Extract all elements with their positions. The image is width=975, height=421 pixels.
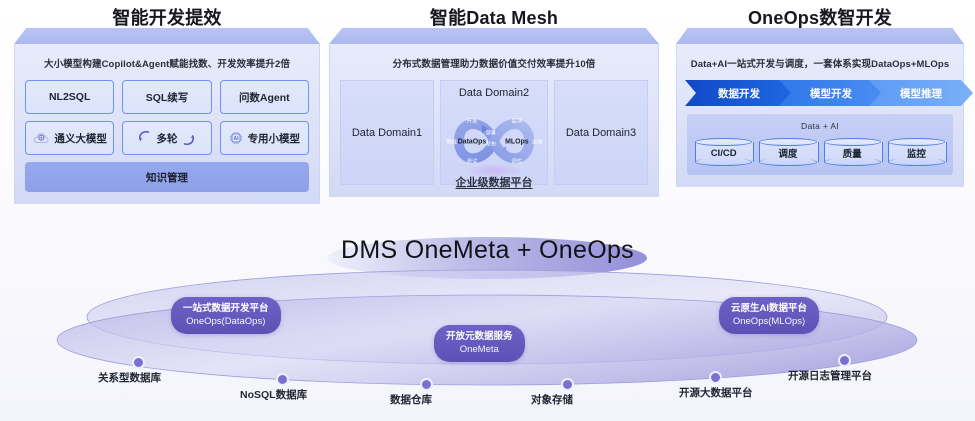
svg-text:AI: AI <box>233 136 239 142</box>
panel-1-subtitle: 大小模型构建Copilot&Agent赋能找数、开发效率提升2倍 <box>25 56 309 70</box>
pill-onemeta-line2: OneMeta <box>446 343 513 356</box>
pill-oneops-mlops[interactable]: 云原生AI数据平台 OneOps(MLOps) <box>719 297 819 334</box>
svg-text:监测: 监测 <box>512 116 523 124</box>
chip-tongyi-large-model[interactable]: 通义大模型 <box>25 121 114 155</box>
panel-intelligent-development: 智能开发提效 大小模型构建Copilot&Agent赋能找数、开发效率提升2倍 … <box>14 28 320 204</box>
cylinder-monitoring-label: 监控 <box>888 145 945 161</box>
data-ai-label: Data + AI <box>695 121 945 131</box>
panel-3-box-top <box>676 28 964 44</box>
chip-dedicated-small-model[interactable]: AI 专用小模型 <box>220 121 309 155</box>
panels-row: 智能开发提效 大小模型构建Copilot&Agent赋能找数、开发效率提升2倍 … <box>0 0 975 222</box>
chip-sql-completion-label: SQL续写 <box>146 90 189 105</box>
panel-1-box: 大小模型构建Copilot&Agent赋能找数、开发效率提升2倍 NL2SQL … <box>14 28 320 204</box>
node-label-relational-db: 关系型数据库 <box>98 370 161 385</box>
node-dot-nosql-db <box>276 373 289 386</box>
data-domain-row: Data Domain1 Data Domain2 <box>340 80 648 185</box>
node-dot-relational-db <box>132 356 145 369</box>
panel-1-chip-row-2: 通义大模型 多轮 <box>25 121 309 155</box>
chevron-model-inference-label: 模型推理 <box>900 86 942 101</box>
pill-oneops-mlops-line2: OneOps(MLOps) <box>731 315 807 328</box>
panel-3-subtitle: Data+AI一站式开发与调度，一套体系实现DataOps+MLOps <box>687 56 953 70</box>
node-label-data-warehouse: 数据仓库 <box>390 392 432 407</box>
pill-oneops-mlops-line1: 云原生AI数据平台 <box>731 302 807 315</box>
chip-dedicated-small-model-label: 专用小模型 <box>248 131 301 146</box>
chip-tongyi-large-model-label: 通义大模型 <box>54 131 107 146</box>
panel-intelligent-data-mesh: 智能Data Mesh 分布式数据管理助力数据价值交付效率提升10倍 Data … <box>329 28 659 197</box>
chip-multi-turn[interactable]: 多轮 <box>122 121 211 155</box>
panel-3-box: Data+AI一站式开发与调度，一套体系实现DataOps+MLOps 数据开发… <box>676 28 964 187</box>
cylinder-monitoring[interactable]: 监控 <box>888 138 945 166</box>
panel-3-body: Data+AI一站式开发与调度，一套体系实现DataOps+MLOps 数据开发… <box>676 44 964 187</box>
pill-oneops-dataops-line2: OneOps(DataOps) <box>183 315 269 328</box>
pill-onemeta-line1: 开放元数据服务 <box>446 330 513 343</box>
node-label-nosql-db: NoSQL数据库 <box>240 387 307 402</box>
data-domain-2: Data Domain2 <box>440 80 548 185</box>
node-dot-object-storage <box>561 378 574 391</box>
cylinder-cicd-label: CI/CD <box>695 145 752 161</box>
data-ai-card: Data + AI CI/CD <box>687 114 953 175</box>
panel-1-title: 智能开发提效 <box>14 4 320 30</box>
multi-turn-arrows-icon-right <box>182 130 195 146</box>
panel-1-body: 大小模型构建Copilot&Agent赋能找数、开发效率提升2倍 NL2SQL … <box>14 44 320 204</box>
data-domain-3: Data Domain3 <box>554 80 648 185</box>
ai-chip-icon: AI <box>229 131 243 145</box>
panel-oneops-development: OneOps数智开发 Data+AI一站式开发与调度，一套体系实现DataOps… <box>676 28 964 187</box>
dataops-mlops-infinity-diagram: DataOps MLOps 开发 审批 测试 部署 发布 监测 运维 调优 <box>441 99 547 185</box>
chevron-model-development[interactable]: 模型开发 <box>779 80 883 106</box>
chip-sql-completion[interactable]: SQL续写 <box>122 80 211 114</box>
chip-query-agent-label: 问数Agent <box>239 90 290 105</box>
chip-nl2sql[interactable]: NL2SQL <box>25 80 114 114</box>
svg-text:发布: 发布 <box>485 139 496 147</box>
svg-text:测试: 测试 <box>467 157 478 165</box>
cloud-icon <box>32 132 49 144</box>
svg-text:运维: 运维 <box>532 138 543 146</box>
panel-2-title: 智能Data Mesh <box>329 4 659 30</box>
svg-text:调优: 调优 <box>512 157 523 165</box>
enterprise-platform-label: 企业级数据平台 <box>441 174 547 190</box>
panel-2-subtitle: 分布式数据管理助力数据价值交付效率提升10倍 <box>340 56 648 70</box>
cylinder-quality-label: 质量 <box>824 145 881 161</box>
pill-onemeta[interactable]: 开放元数据服务 OneMeta <box>434 325 525 362</box>
data-domain-1: Data Domain1 <box>340 80 434 185</box>
chevron-data-development-label: 数据开发 <box>718 86 760 101</box>
node-label-open-source-logging: 开源日志管理平台 <box>788 368 872 383</box>
chevron-data-development[interactable]: 数据开发 <box>685 80 793 106</box>
data-domain-1-label: Data Domain1 <box>352 127 422 139</box>
pill-oneops-dataops[interactable]: 一站式数据开发平台 OneOps(DataOps) <box>171 297 281 334</box>
node-label-open-source-bigdata: 开源大数据平台 <box>679 385 753 400</box>
cylinder-cicd[interactable]: CI/CD <box>695 138 752 166</box>
chip-multi-turn-label: 多轮 <box>156 131 177 146</box>
pill-oneops-dataops-line1: 一站式数据开发平台 <box>183 302 269 315</box>
data-domain-3-label: Data Domain3 <box>566 127 636 139</box>
slide-canvas: 智能开发提效 大小模型构建Copilot&Agent赋能找数、开发效率提升2倍 … <box>0 0 975 421</box>
chip-knowledge-management[interactable]: 知识管理 <box>25 162 309 192</box>
multi-turn-arrows-icon <box>138 130 151 146</box>
svg-text:开发: 开发 <box>467 116 478 124</box>
svg-text:审批: 审批 <box>446 138 457 146</box>
dms-onemeta-oneops-diagram: DMS OneMeta + OneOps 一站式数据开发平台 OneOps(Da… <box>0 222 975 421</box>
panel-1-box-top <box>14 28 320 44</box>
panel-1-chip-row-1: NL2SQL SQL续写 问数Agent <box>25 80 309 114</box>
chip-query-agent[interactable]: 问数Agent <box>220 80 309 114</box>
cylinder-scheduling-label: 调度 <box>759 145 816 161</box>
panel-2-body: 分布式数据管理助力数据价值交付效率提升10倍 Data Domain1 Data… <box>329 44 659 197</box>
panel-3-title: OneOps数智开发 <box>676 4 964 30</box>
data-domain-2-label: Data Domain2 <box>459 87 529 99</box>
node-dot-data-warehouse <box>420 378 433 391</box>
node-dot-open-source-bigdata <box>709 371 722 384</box>
svg-text:DataOps: DataOps <box>458 139 487 146</box>
node-dot-open-source-logging <box>838 354 851 367</box>
chevron-pipeline: 数据开发 模型开发 模型推理 <box>685 80 955 106</box>
panel-2-box-top <box>329 28 659 44</box>
panel-2-box: 分布式数据管理助力数据价值交付效率提升10倍 Data Domain1 Data… <box>329 28 659 197</box>
diagram-title: DMS OneMeta + OneOps <box>0 236 975 265</box>
chevron-model-development-label: 模型开发 <box>810 86 852 101</box>
cylinder-scheduling[interactable]: 调度 <box>759 138 816 166</box>
node-label-object-storage: 对象存储 <box>531 392 573 407</box>
chevron-model-inference[interactable]: 模型推理 <box>869 80 973 106</box>
chip-nl2sql-label: NL2SQL <box>49 91 90 103</box>
svg-text:MLOps: MLOps <box>505 139 529 146</box>
cylinder-quality[interactable]: 质量 <box>824 138 881 166</box>
capability-cylinder-row: CI/CD 调度 <box>695 138 945 166</box>
